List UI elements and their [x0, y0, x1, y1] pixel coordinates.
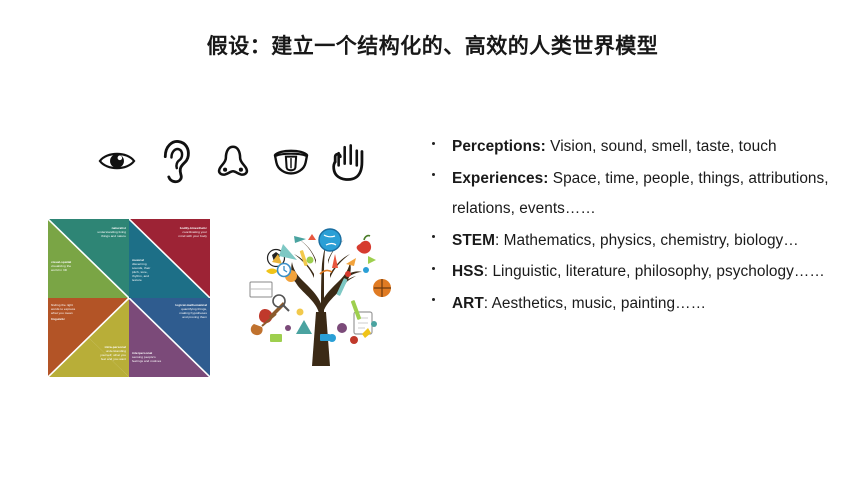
bullet-dot-icon	[432, 235, 435, 238]
mi-desc-logical-mathematical: quantifying things, making hypotheses an…	[175, 308, 207, 320]
mi-label-linguistic: finding the right words to express what …	[51, 304, 79, 321]
bullet-text: Vision, sound, smell, taste, touch	[546, 138, 777, 155]
bullet-dot-icon	[432, 267, 435, 270]
bullet-dot-icon	[432, 173, 435, 176]
list-item: HSS: Linguistic, literature, philosophy,…	[428, 257, 865, 288]
bullet-text: : Linguistic, literature, philosophy, ps…	[484, 263, 825, 280]
bullet-dot-icon	[432, 142, 435, 145]
bullet-dot-icon	[432, 298, 435, 301]
mi-desc-visual-spatial: visualizing the world in 3D	[51, 265, 77, 273]
mi-quadrant-bottom-left: finding the right words to express what …	[48, 298, 129, 377]
mi-quadrant-top-right: bodily-kinesthetic coordinating your min…	[129, 219, 210, 298]
multiple-intelligences-grid: naturalist understanding living things a…	[48, 219, 210, 377]
sensory-icon-row	[98, 132, 368, 184]
bullet-label: Perceptions:	[452, 138, 546, 155]
nose-icon	[214, 138, 252, 184]
mi-label-bodily-kinesthetic: bodily-kinesthetic coordinating your min…	[177, 227, 207, 239]
bullet-label: HSS	[452, 263, 484, 280]
mi-label-musical: musical discerning sounds, their pitch, …	[132, 259, 158, 283]
list-item: STEM: Mathematics, physics, chemistry, b…	[428, 226, 865, 257]
list-item: Experiences: Space, time, people, things…	[428, 164, 865, 225]
mi-desc-linguistic: finding the right words to express what …	[51, 304, 79, 316]
bullet-label: STEM	[452, 232, 495, 249]
bullet-label: ART	[452, 295, 484, 312]
bullet-text: : Aesthetics, music, painting……	[484, 295, 706, 312]
mi-desc-musical: discerning sounds, their pitch, tone, rh…	[132, 263, 158, 282]
mi-quadrant-bottom-right: logical-mathematical quantifying things,…	[129, 298, 210, 377]
mi-quadrant-top-left: naturalist understanding living things a…	[48, 219, 129, 298]
mi-desc-bodily-kinesthetic: coordinating your mind with your body	[177, 231, 207, 239]
knowledge-tree-illustration	[236, 216, 406, 378]
list-item: Perceptions: Vision, sound, smell, taste…	[428, 132, 865, 163]
mi-desc-interpersonal: sensing people's feelings and motives	[132, 356, 164, 364]
ear-icon	[156, 138, 194, 184]
mi-label-intra-personal: intra-personal understanding yourself, w…	[96, 346, 126, 362]
page-title: 假设：建立一个结构化的、高效的人类世界模型	[0, 30, 865, 60]
slide-canvas: 假设：建立一个结构化的、高效的人类世界模型	[0, 0, 865, 487]
mi-label-interpersonal: interpersonal sensing people's feelings …	[132, 352, 164, 364]
bullet-list: Perceptions: Vision, sound, smell, taste…	[428, 132, 865, 320]
bullet-text: : Mathematics, physics, chemistry, biolo…	[495, 232, 799, 249]
eye-icon	[98, 138, 136, 184]
mouth-tongue-icon	[272, 138, 310, 184]
bullet-label: Experiences:	[452, 170, 548, 187]
mi-label-visual-spatial: visual-spatial visualizing the world in …	[51, 261, 77, 273]
list-item: ART: Aesthetics, music, painting……	[428, 289, 865, 320]
mi-label-logical-mathematical: logical-mathematical quantifying things,…	[175, 304, 207, 320]
mi-desc-naturalist: understanding living things and nature	[96, 231, 126, 239]
mi-desc-intra-personal: understanding yourself, what you feel an…	[96, 350, 126, 362]
hand-icon	[330, 138, 368, 184]
mi-label-naturalist: naturalist understanding living things a…	[96, 227, 126, 239]
